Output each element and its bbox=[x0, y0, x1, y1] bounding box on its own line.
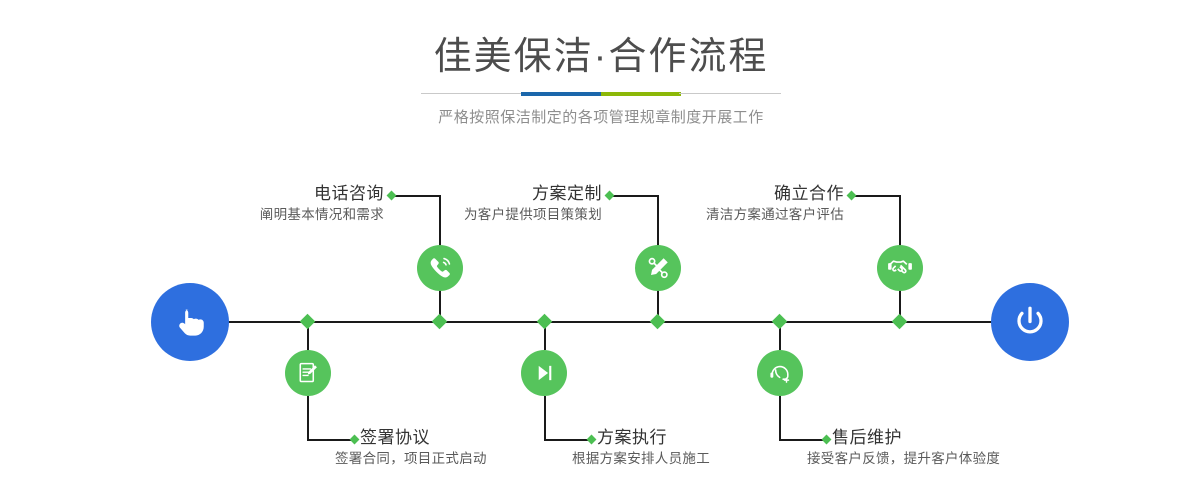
timeline-axis bbox=[225, 321, 1000, 323]
connector-horizontal-5 bbox=[852, 195, 900, 197]
process-flow-diagram: 电话咨询 阐明基本情况和需求 签署协议 签署合同，项目正式启动 bbox=[0, 150, 1202, 502]
step-desc-3: 为客户提供项目策策划 bbox=[322, 205, 602, 225]
step-title-6: 售后维护 bbox=[832, 427, 1132, 449]
title-divider bbox=[421, 92, 781, 96]
connector-vertical-5b bbox=[899, 195, 901, 247]
divider-gray-right bbox=[679, 93, 781, 94]
step-desc-6: 接受客户反馈，提升客户体验度 bbox=[807, 449, 1132, 469]
document-edit-icon bbox=[295, 360, 321, 386]
play-execute-icon bbox=[531, 360, 557, 386]
headset-support-icon bbox=[767, 360, 793, 386]
pointing-hand-icon bbox=[168, 300, 212, 344]
step-icon-5[interactable] bbox=[877, 245, 923, 291]
power-icon bbox=[1008, 300, 1052, 344]
handshake-icon bbox=[886, 254, 914, 282]
label-bullet-5 bbox=[847, 191, 857, 201]
axis-marker-1 bbox=[432, 314, 448, 330]
step-title-3: 方案定制 bbox=[322, 183, 602, 205]
step-desc-5: 清洁方案通过客户评估 bbox=[564, 205, 844, 225]
page-subtitle: 严格按照保洁制定的各项管理规章制度开展工作 bbox=[0, 106, 1202, 127]
axis-marker-2 bbox=[300, 314, 316, 330]
axis-marker-3 bbox=[650, 314, 666, 330]
page-title: 佳美保洁·合作流程 bbox=[0, 34, 1202, 80]
flow-end-node[interactable] bbox=[991, 283, 1069, 361]
flow-start-node[interactable] bbox=[151, 283, 229, 361]
divider-gray-left bbox=[421, 93, 523, 94]
axis-marker-5 bbox=[892, 314, 908, 330]
step-icon-4[interactable] bbox=[521, 350, 567, 396]
step-icon-2[interactable] bbox=[285, 350, 331, 396]
connector-vertical-2b bbox=[307, 396, 309, 440]
pencil-ruler-icon bbox=[644, 254, 672, 282]
divider-green-segment bbox=[601, 92, 681, 96]
phone-call-icon bbox=[426, 254, 454, 282]
step-icon-1[interactable] bbox=[417, 245, 463, 291]
page-header: 佳美保洁·合作流程 严格按照保洁制定的各项管理规章制度开展工作 bbox=[0, 0, 1202, 150]
axis-marker-6 bbox=[772, 314, 788, 330]
step-icon-6[interactable] bbox=[757, 350, 803, 396]
step-icon-3[interactable] bbox=[635, 245, 681, 291]
divider-blue-segment bbox=[521, 92, 601, 96]
step-label-3: 方案定制 为客户提供项目策策划 bbox=[322, 183, 602, 225]
axis-marker-4 bbox=[537, 314, 553, 330]
step-label-5: 确立合作 清洁方案通过客户评估 bbox=[564, 183, 844, 225]
connector-horizontal-2 bbox=[307, 439, 355, 441]
label-bullet-2 bbox=[350, 435, 360, 445]
step-label-6: 售后维护 接受客户反馈，提升客户体验度 bbox=[832, 427, 1132, 469]
